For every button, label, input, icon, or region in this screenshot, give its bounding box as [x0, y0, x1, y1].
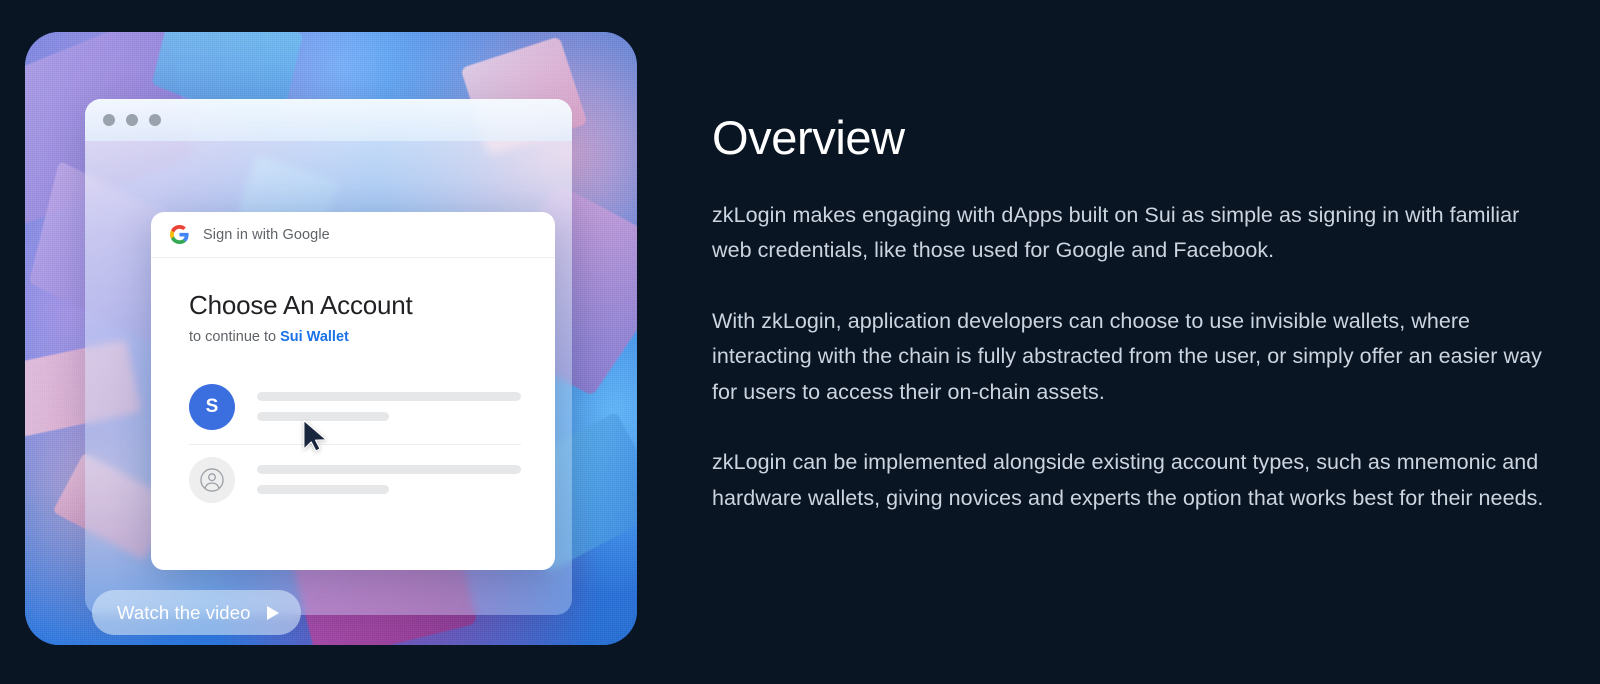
continue-to-prefix: to continue to [189, 329, 280, 345]
account-list: S [189, 372, 555, 517]
page-root: Sign in with Google Choose An Account to… [0, 0, 1600, 684]
placeholder-line [257, 465, 521, 474]
minimize-dot-icon[interactable] [126, 114, 138, 126]
continue-to-subtitle: to continue to Sui Wallet [189, 329, 555, 345]
account-placeholder-lines [257, 465, 521, 494]
list-item[interactable]: S [189, 372, 521, 444]
placeholder-line [257, 392, 521, 401]
overview-paragraph-1: zkLogin makes engaging with dApps built … [712, 198, 1557, 269]
page-title: Overview [712, 113, 1557, 164]
zklogin-promo-card[interactable]: Sign in with Google Choose An Account to… [25, 32, 637, 645]
google-signin-dialog: Sign in with Google Choose An Account to… [151, 212, 555, 570]
watch-the-video-button[interactable]: Watch the video [92, 590, 301, 635]
sui-wallet-link[interactable]: Sui Wallet [280, 329, 349, 345]
browser-titlebar [85, 99, 572, 141]
person-icon [199, 467, 225, 493]
close-dot-icon[interactable] [103, 114, 115, 126]
overview-paragraph-3: zkLogin can be implemented alongside exi… [712, 445, 1557, 516]
account-placeholder-lines [257, 392, 521, 421]
choose-account-title: Choose An Account [189, 291, 555, 320]
avatar: S [189, 384, 235, 430]
google-g-icon [170, 225, 189, 244]
placeholder-line [257, 485, 389, 494]
watch-the-video-label: Watch the video [117, 602, 250, 624]
overview-section: Overview zkLogin makes engaging with dAp… [712, 113, 1557, 516]
play-triangle-icon [267, 606, 279, 620]
google-dialog-body: Choose An Account to continue to Sui Wal… [151, 258, 555, 517]
google-dialog-header: Sign in with Google [151, 212, 555, 258]
overview-paragraph-2: With zkLogin, application developers can… [712, 304, 1557, 411]
avatar [189, 457, 235, 503]
list-item[interactable] [189, 444, 521, 517]
maximize-dot-icon[interactable] [149, 114, 161, 126]
google-signin-header-label: Sign in with Google [203, 227, 330, 243]
mouse-pointer-icon [302, 419, 329, 452]
